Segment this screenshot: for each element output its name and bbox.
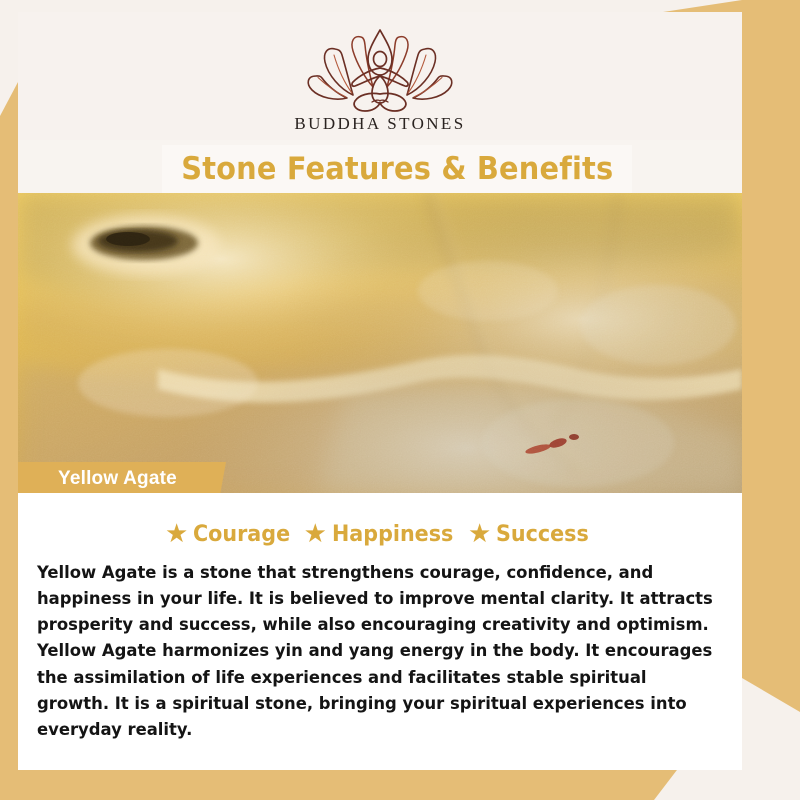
stone-description-text: Yellow Agate is a stone that strengthens… bbox=[37, 560, 717, 743]
description-panel: ★ Courage ★ Happiness ★ Success Yellow A… bbox=[18, 493, 742, 770]
keyword-happiness: ★ Happiness bbox=[304, 521, 461, 547]
gold-frame-right bbox=[742, 0, 800, 712]
section-title-band: Stone Features & Benefits bbox=[162, 145, 632, 193]
page-title: Stone Features & Benefits bbox=[181, 151, 613, 187]
keyword-label: Happiness bbox=[332, 522, 453, 547]
keyword-label: Success bbox=[496, 522, 589, 547]
brand-header: BUDDHA STONES bbox=[18, 12, 742, 140]
gold-frame-left bbox=[0, 82, 18, 800]
stone-name-banner: Yellow Agate bbox=[18, 462, 226, 495]
benefit-keywords: ★ Courage ★ Happiness ★ Success bbox=[18, 521, 742, 547]
keyword-success: ★ Success bbox=[468, 521, 595, 547]
content-card: BUDDHA STONES Stone Features & Benefits bbox=[18, 12, 742, 770]
gold-frame-bottom bbox=[0, 766, 680, 800]
star-icon: ★ bbox=[304, 520, 327, 546]
star-icon: ★ bbox=[468, 520, 491, 546]
yellow-agate-slab-photo bbox=[18, 193, 742, 493]
star-icon: ★ bbox=[165, 520, 188, 546]
brand-name: BUDDHA STONES bbox=[294, 114, 465, 134]
poster-root: BUDDHA STONES Stone Features & Benefits bbox=[0, 0, 800, 800]
lotus-meditation-figure-icon bbox=[305, 28, 455, 112]
stone-name-label: Yellow Agate bbox=[58, 468, 177, 490]
keyword-courage: ★ Courage bbox=[165, 521, 297, 547]
keyword-label: Courage bbox=[193, 522, 290, 547]
